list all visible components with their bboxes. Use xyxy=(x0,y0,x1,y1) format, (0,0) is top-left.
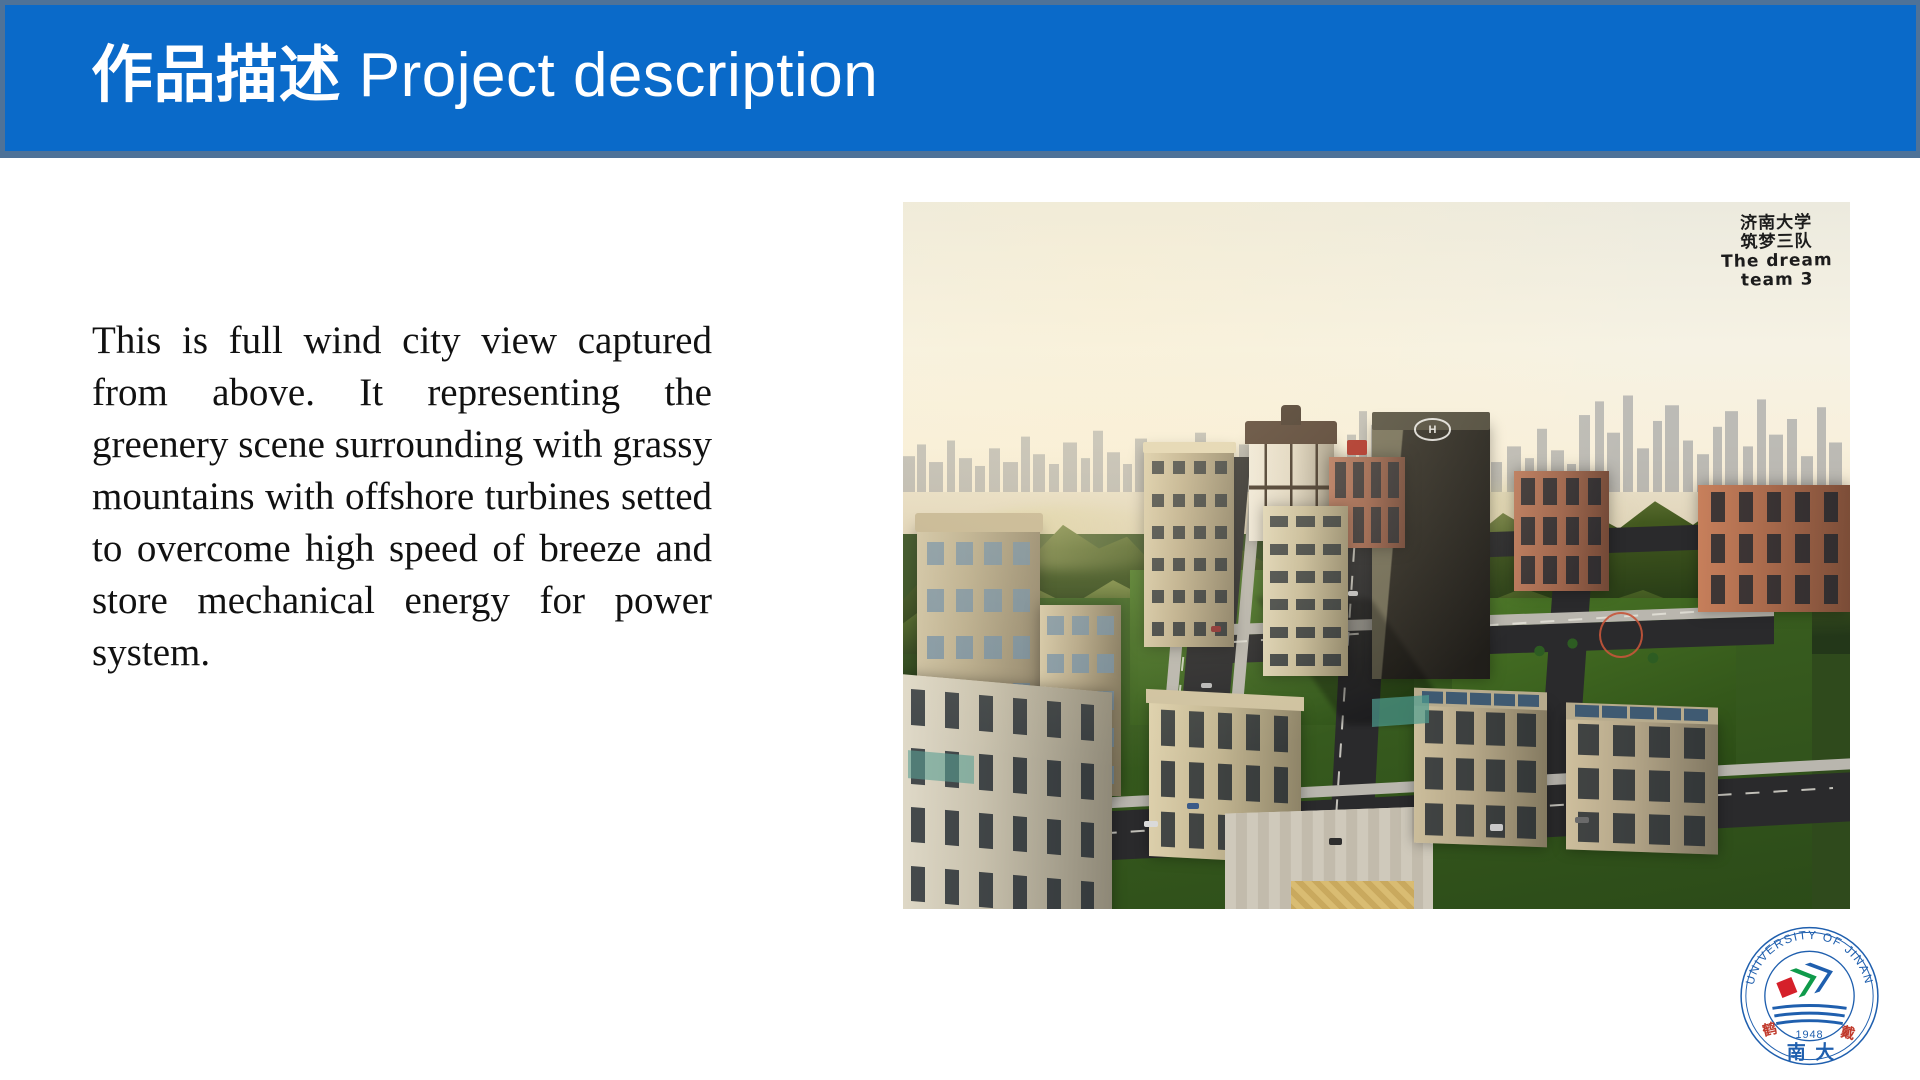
svg-text:大: 大 xyxy=(1815,1041,1834,1064)
car xyxy=(1575,817,1588,823)
building-back-tan xyxy=(1144,449,1234,647)
building-brick-b xyxy=(1514,471,1609,591)
window-grid xyxy=(1152,461,1228,635)
watermark-line-1: 济南大学 xyxy=(1720,213,1832,234)
palm-tree xyxy=(1566,633,1579,654)
logo-year: 1948 xyxy=(1795,1029,1823,1041)
car xyxy=(1187,803,1199,809)
car xyxy=(1144,821,1157,827)
page-title-spacer xyxy=(341,41,359,110)
building-roof xyxy=(915,513,1043,532)
window-grid xyxy=(1578,724,1705,847)
car xyxy=(1490,824,1503,830)
university-of-jinan-logo-icon: UNIVERSITY OF JINAN 1948 鹤 戴 南 大 xyxy=(1732,920,1887,1072)
watermark-text: 济南大学 筑梦三队 The dream team 3 xyxy=(1720,213,1833,291)
building-brick-c xyxy=(1698,485,1850,612)
title-banner: 作品描述 Project description xyxy=(0,0,1920,158)
watermark-line-3: The dream xyxy=(1721,251,1833,272)
car xyxy=(1348,591,1357,596)
page-title: 作品描述 Project description xyxy=(91,21,878,131)
car xyxy=(1201,683,1211,689)
rooftop-sign xyxy=(1347,440,1367,455)
car xyxy=(1329,838,1342,844)
ferris-wheel-icon xyxy=(1599,612,1643,658)
city-render-image: H xyxy=(903,202,1850,909)
palm-tree xyxy=(1646,647,1659,668)
palm-tree xyxy=(1533,640,1546,661)
window-grid xyxy=(1521,478,1601,584)
page-title-english: Project description xyxy=(359,41,879,110)
window-grid xyxy=(911,689,1094,909)
tudor-cupola xyxy=(1281,405,1301,425)
window-grid xyxy=(1270,516,1342,665)
helipad-marker-icon: H xyxy=(1414,418,1450,440)
sand-patch xyxy=(1291,881,1414,909)
building-foreground-left xyxy=(903,673,1111,909)
building-roof xyxy=(1143,442,1237,454)
building-front-right-b xyxy=(1566,715,1718,855)
car xyxy=(1211,626,1221,632)
building-pale-mid xyxy=(1263,506,1348,676)
university-logo: UNIVERSITY OF JINAN 1948 鹤 戴 南 大 xyxy=(1732,920,1887,1072)
svg-text:南: 南 xyxy=(1787,1042,1806,1064)
window-grid xyxy=(1425,710,1536,838)
building-front-right-a xyxy=(1414,702,1547,848)
project-description-paragraph: This is full wind city view captured fro… xyxy=(92,315,712,679)
pool-area xyxy=(1372,695,1429,727)
watermark-line-4: team 3 xyxy=(1721,270,1833,291)
page-title-chinese: 作品描述 xyxy=(91,41,341,110)
window-grid xyxy=(1711,492,1838,604)
